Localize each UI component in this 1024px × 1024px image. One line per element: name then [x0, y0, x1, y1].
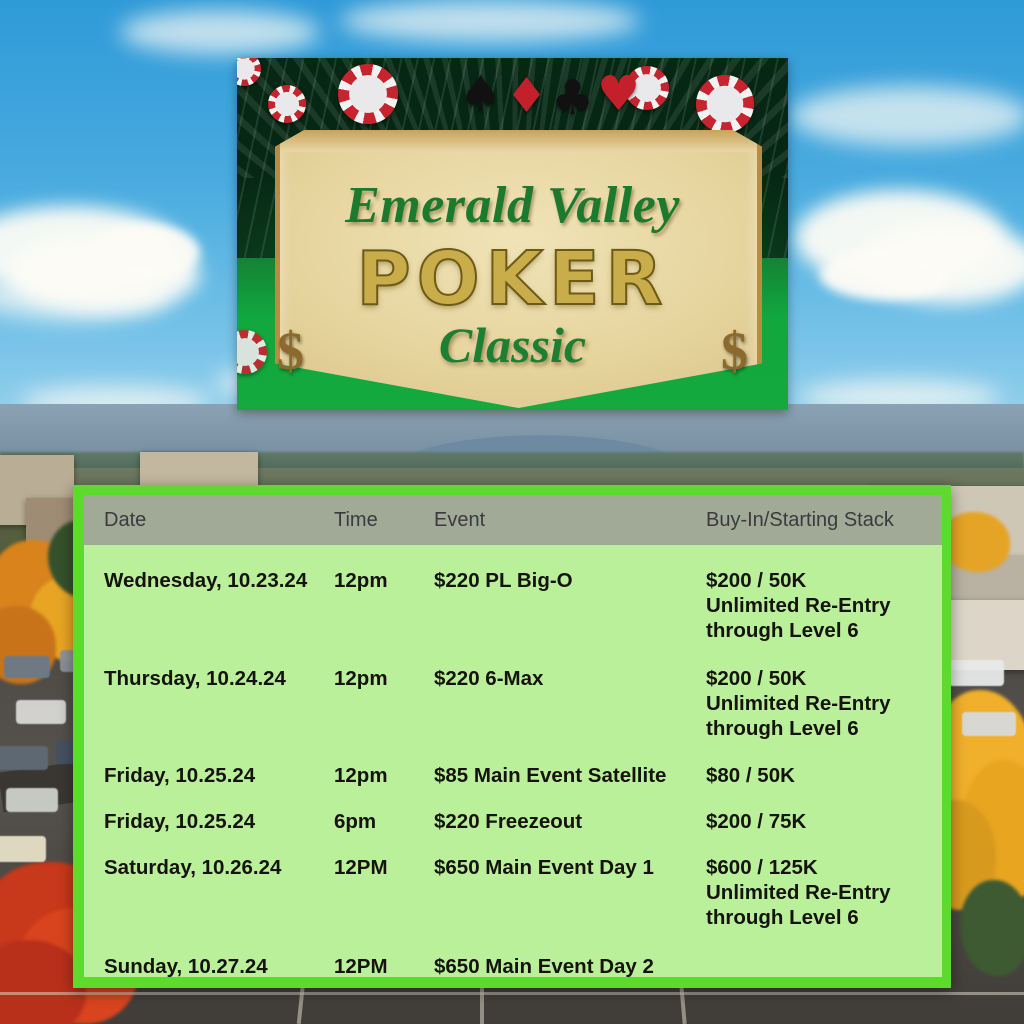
- car: [16, 700, 66, 724]
- poker-chip-icon: [268, 85, 306, 123]
- logo-title-emerald-valley: Emerald Valley: [237, 176, 788, 235]
- column-header-buyin: Buy-In/Starting Stack: [706, 509, 942, 532]
- cell-time: 12pm: [334, 763, 434, 788]
- table-row[interactable]: Sunday, 10.27.24 12PM $650 Main Event Da…: [84, 930, 942, 977]
- diamond-suit-icon: ♦: [505, 72, 548, 120]
- cell-time: 12PM: [334, 954, 434, 977]
- car: [0, 746, 48, 770]
- poster-canvas: ♠ ♦ ♣ ♥ Emerald Valley POKER Classic $ $…: [0, 0, 1024, 1024]
- table-row[interactable]: Friday, 10.25.24 12pm $85 Main Event Sat…: [84, 741, 942, 788]
- cell-date: Wednesday, 10.23.24: [84, 568, 334, 643]
- table-header-row: Date Time Event Buy-In/Starting Stack: [84, 495, 942, 545]
- lot-stripe: [0, 992, 1024, 995]
- cell-buyin: $80 / 50K: [706, 763, 942, 788]
- cell-buyin: $200 / 75K: [706, 809, 942, 834]
- table-row[interactable]: Friday, 10.25.24 6pm $220 Freezeout $200…: [84, 788, 942, 834]
- cell-buyin: [706, 954, 942, 977]
- cell-buyin: $200 / 50K Unlimited Re-Entry through Le…: [706, 568, 942, 643]
- schedule-table: Date Time Event Buy-In/Starting Stack We…: [73, 485, 951, 988]
- cell-buyin: $600 / 125K Unlimited Re-Entry through L…: [706, 855, 942, 930]
- cell-date: Friday, 10.25.24: [84, 809, 334, 834]
- logo-title-classic: Classic: [237, 316, 788, 374]
- cell-event: $650 Main Event Day 2: [434, 954, 706, 977]
- car: [0, 836, 46, 862]
- cell-date: Sunday, 10.27.24: [84, 954, 334, 977]
- cell-event: $220 6-Max: [434, 666, 706, 741]
- cloud: [820, 250, 950, 300]
- cell-event: $220 Freezeout: [434, 809, 706, 834]
- parchment-top-edge: [280, 130, 757, 152]
- logo-title-poker: POKER: [237, 236, 788, 322]
- heart-suit-icon: ♥: [597, 70, 640, 118]
- cell-time: 12pm: [334, 666, 434, 741]
- cell-date: Friday, 10.25.24: [84, 763, 334, 788]
- dollar-sign-left-icon: $: [277, 320, 304, 382]
- column-header-date: Date: [84, 509, 334, 532]
- schedule-table-body-panel: Date Time Event Buy-In/Starting Stack We…: [84, 495, 942, 977]
- table-row[interactable]: Thursday, 10.24.24 12pm $220 6-Max $200 …: [84, 643, 942, 741]
- cell-event: $650 Main Event Day 1: [434, 855, 706, 930]
- dollar-sign-right-icon: $: [721, 320, 748, 382]
- cell-event: $85 Main Event Satellite: [434, 763, 706, 788]
- event-logo-banner: ♠ ♦ ♣ ♥ Emerald Valley POKER Classic $ $…: [237, 58, 788, 410]
- cell-time: 6pm: [334, 809, 434, 834]
- cloud: [120, 10, 320, 54]
- car: [4, 656, 50, 678]
- cell-time: 12PM: [334, 855, 434, 930]
- cell-time: 12pm: [334, 568, 434, 643]
- table-row[interactable]: Saturday, 10.26.24 12PM $650 Main Event …: [84, 834, 942, 930]
- spade-suit-icon: ♠: [459, 70, 502, 118]
- cell-event: $220 PL Big-O: [434, 568, 706, 643]
- table-row[interactable]: Wednesday, 10.23.24 12pm $220 PL Big-O $…: [84, 545, 942, 643]
- poker-chip-icon: [338, 64, 398, 124]
- table-body: Wednesday, 10.23.24 12pm $220 PL Big-O $…: [84, 545, 942, 977]
- column-header-event: Event: [434, 509, 706, 532]
- car: [962, 712, 1016, 736]
- poker-chip-icon: [696, 75, 754, 133]
- column-header-time: Time: [334, 509, 434, 532]
- cell-buyin: $200 / 50K Unlimited Re-Entry through Le…: [706, 666, 942, 741]
- car: [948, 660, 1004, 686]
- car: [6, 788, 58, 812]
- cloud: [340, 0, 640, 42]
- cell-date: Thursday, 10.24.24: [84, 666, 334, 741]
- cell-date: Saturday, 10.26.24: [84, 855, 334, 930]
- club-suit-icon: ♣: [551, 74, 594, 122]
- cloud: [790, 86, 1024, 146]
